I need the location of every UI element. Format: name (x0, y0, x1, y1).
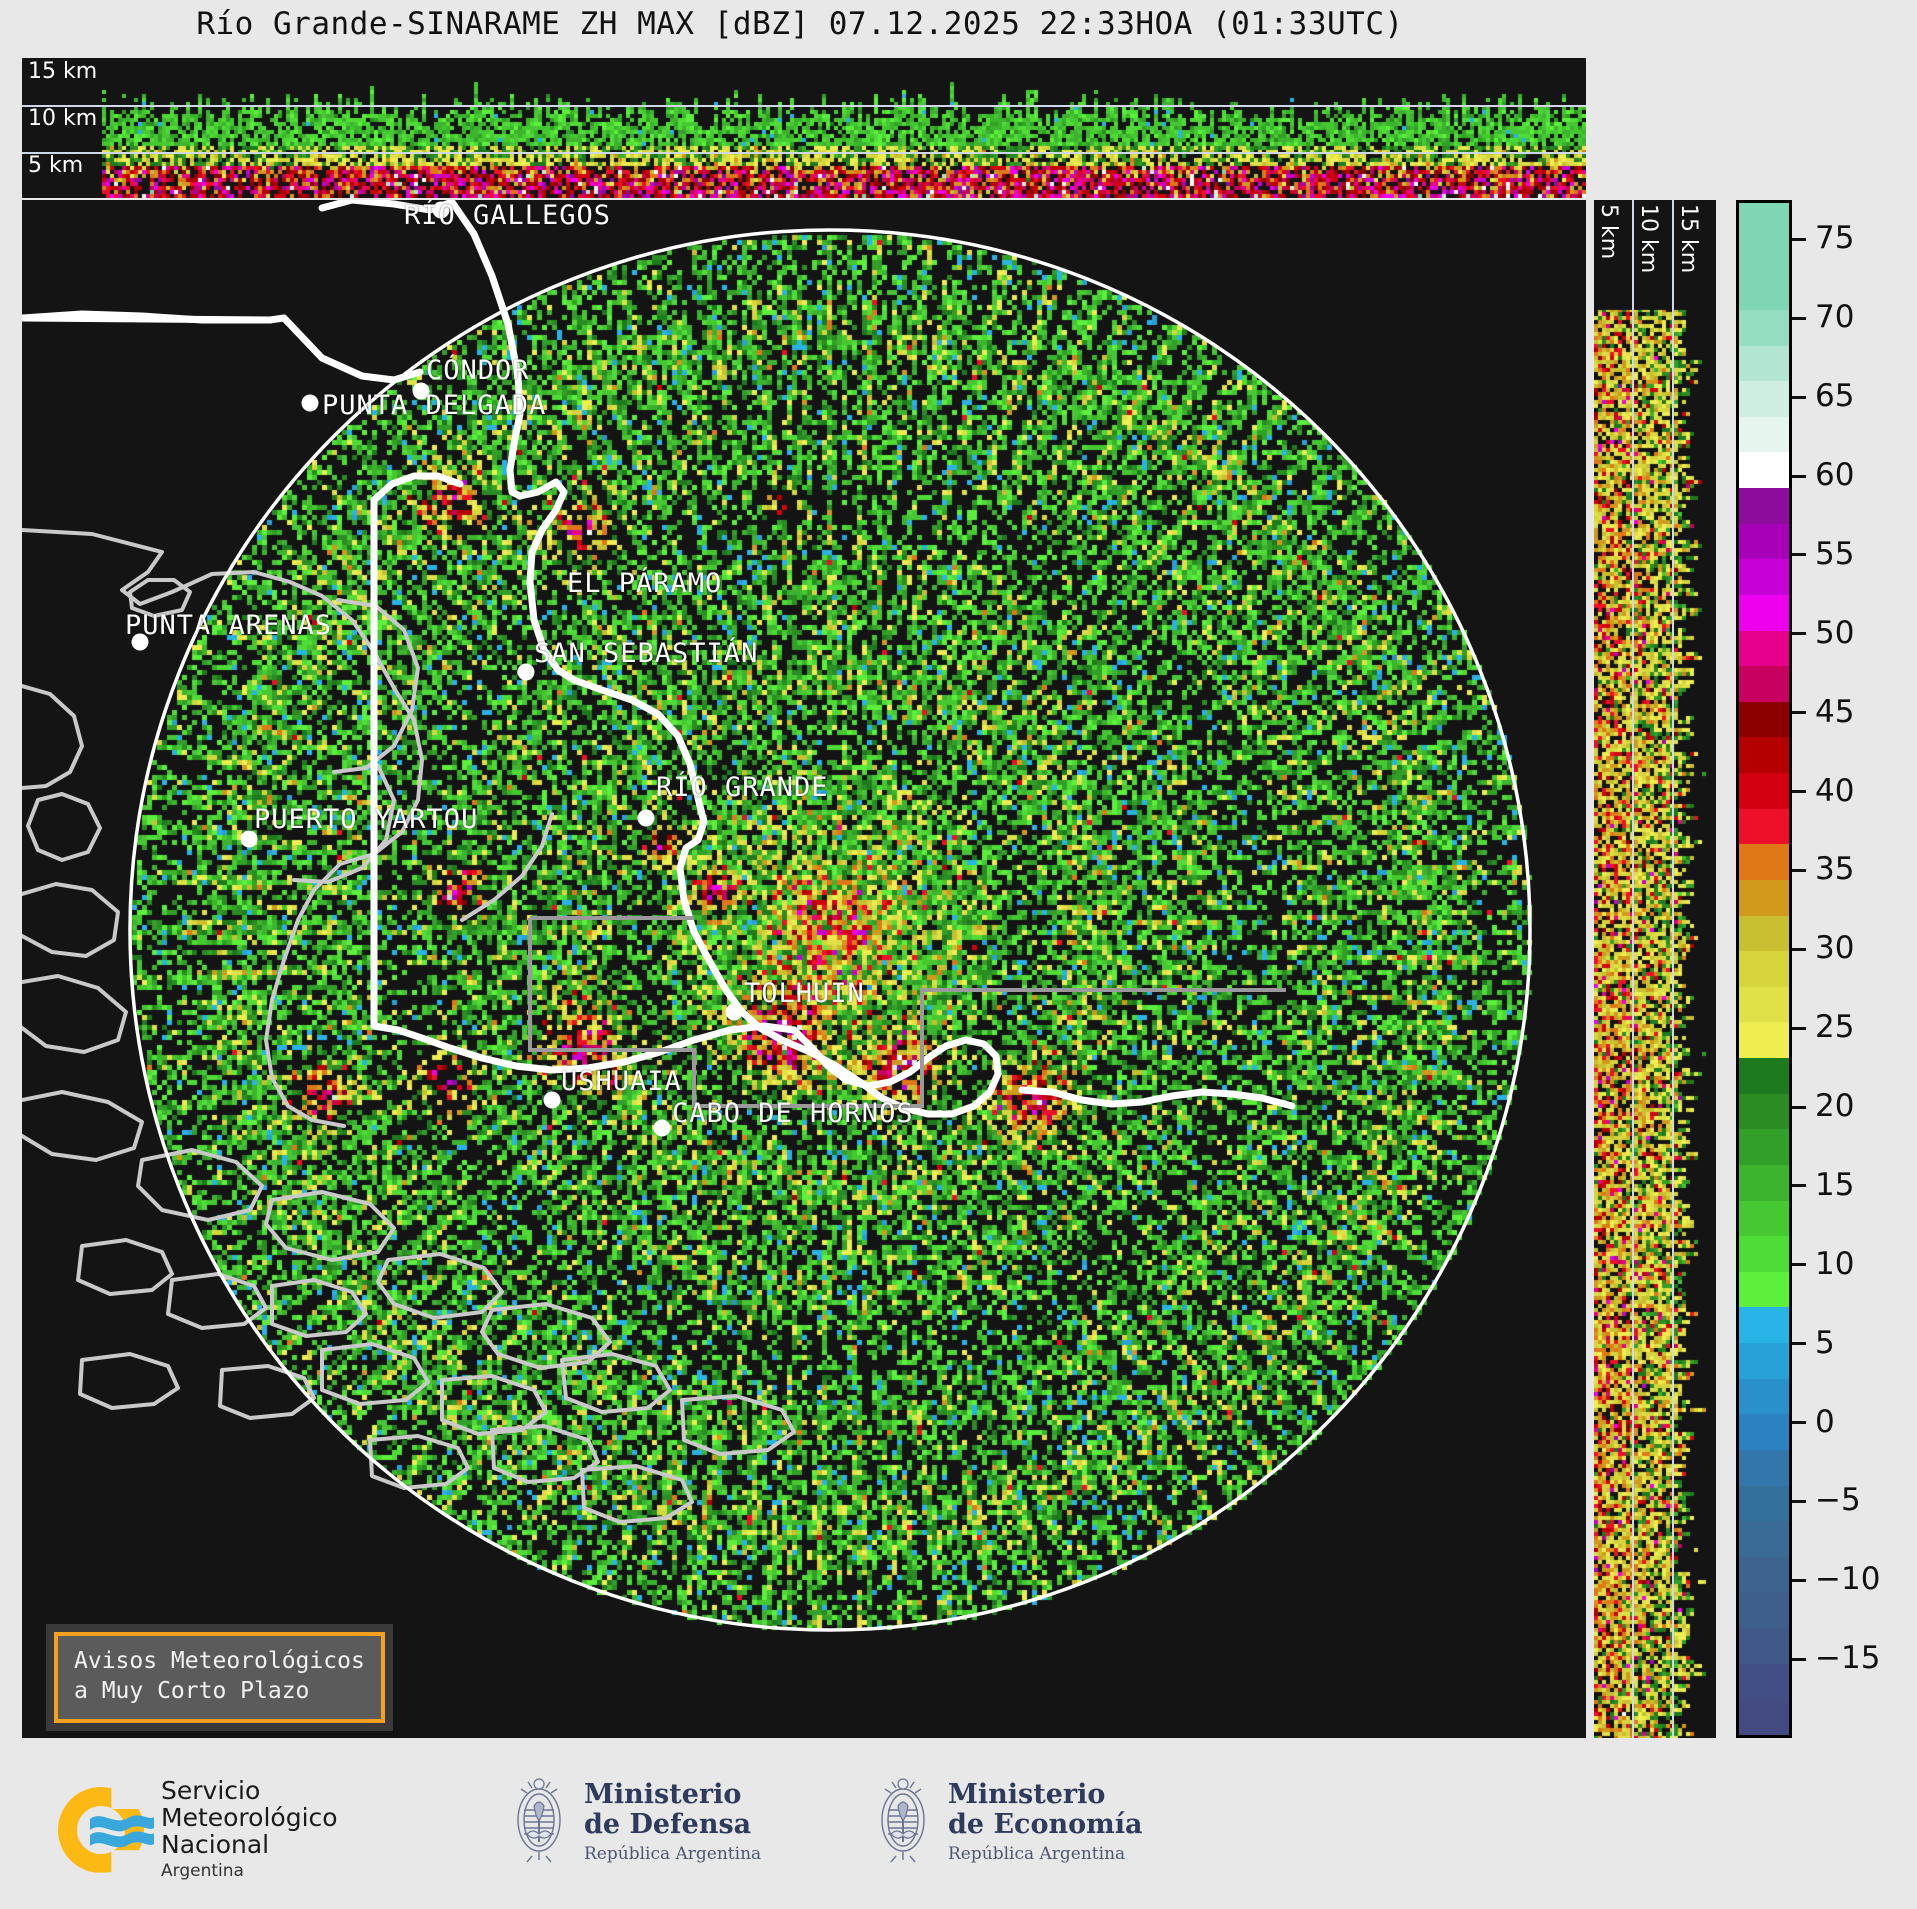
city-label-7: RÍO GRANDE (656, 772, 829, 803)
smn-wordmark: Servicio Meteorológico Nacional Argentin… (161, 1778, 338, 1881)
tick-dash (1792, 1658, 1806, 1661)
city-label-1: CÓNDOR (426, 355, 530, 386)
tick-label: 35 (1815, 851, 1854, 887)
colorbar-band-37 (1739, 1521, 1789, 1557)
colorbar-band-21 (1739, 951, 1789, 987)
colorbar-band-1 (1739, 239, 1789, 275)
colorbar (1736, 200, 1792, 1738)
tick-label: 75 (1815, 220, 1854, 256)
tick-label: 25 (1815, 1009, 1854, 1045)
city-label-9: USHUAIA (561, 1066, 682, 1097)
footer: Servicio Meteorológico Nacional Argentin… (0, 1760, 1600, 1909)
city-label-5: PUNTA ARENAS (125, 610, 332, 641)
colorbar-band-4 (1739, 346, 1789, 382)
coastline-overlay (22, 200, 1586, 1738)
economia-line-3: República Argentina (948, 1844, 1142, 1864)
height-label-10km: 10 km (28, 108, 97, 130)
colorbar-tick-labels: 757065605550454035302520151050−5−10−15 (1792, 200, 1912, 1738)
colorbar-gradient (1736, 200, 1792, 1738)
top-cross-section-canvas (22, 58, 1586, 198)
ministerio-economia-logo: Ministerio de Economía República Argenti… (872, 1776, 1142, 1868)
tick-dash (1792, 238, 1806, 241)
tick-label: 70 (1815, 299, 1854, 335)
ministerio-economia-wordmark: Ministerio de Economía República Argenti… (948, 1780, 1142, 1864)
tick-label: 0 (1815, 1404, 1835, 1440)
colorbar-band-8 (1739, 488, 1789, 524)
city-dot-8[interactable] (726, 1004, 743, 1021)
ministerio-defensa-logo: Ministerio de Defensa República Argentin… (508, 1776, 761, 1868)
smn-line-2: Meteorológico (161, 1805, 338, 1832)
colorbar-band-16 (1739, 773, 1789, 809)
tick-label: 40 (1815, 773, 1854, 809)
colorbar-band-5 (1739, 381, 1789, 417)
ministerio-defensa-wordmark: Ministerio de Defensa República Argentin… (584, 1780, 761, 1864)
colorbar-band-23 (1739, 1022, 1789, 1058)
tick-dash (1792, 632, 1806, 635)
height-label-5km-right: 5 km (1596, 204, 1621, 259)
height-gridline-10km-right (1632, 200, 1634, 1738)
colorbar-band-22 (1739, 987, 1789, 1023)
tick-label: 5 (1815, 1325, 1835, 1361)
colorbar-band-10 (1739, 559, 1789, 595)
tick-label: 65 (1815, 378, 1854, 414)
colorbar-band-15 (1739, 737, 1789, 773)
tick-label: 20 (1815, 1088, 1854, 1124)
tick-label: −10 (1815, 1561, 1880, 1597)
colorbar-band-38 (1739, 1557, 1789, 1593)
economia-line-2: de Economía (948, 1810, 1142, 1840)
tick-dash (1792, 396, 1806, 399)
city-label-0: RÍO GALLEGOS (404, 200, 611, 231)
city-label-4: SAN SEBASTIÁN (534, 638, 758, 669)
colorbar-band-2 (1739, 274, 1789, 310)
tick-dash (1792, 790, 1806, 793)
right-cross-section-canvas (1594, 200, 1716, 1738)
colorbar-band-12 (1739, 631, 1789, 667)
colorbar-band-26 (1739, 1129, 1789, 1165)
city-dot-7[interactable] (638, 810, 655, 827)
tick-label: −5 (1815, 1482, 1861, 1518)
colorbar-band-25 (1739, 1094, 1789, 1130)
tick-label: 60 (1815, 457, 1854, 493)
colorbar-band-18 (1739, 844, 1789, 880)
colorbar-band-24 (1739, 1058, 1789, 1094)
colorbar-band-33 (1739, 1379, 1789, 1415)
tick-label: 50 (1815, 615, 1854, 651)
colorbar-band-41 (1739, 1664, 1789, 1700)
tick-dash (1792, 1263, 1806, 1266)
defensa-line-1: Ministerio (584, 1780, 761, 1810)
colorbar-band-6 (1739, 417, 1789, 453)
tick-dash (1792, 317, 1806, 320)
colorbar-band-13 (1739, 666, 1789, 702)
smn-line-4: Argentina (161, 1861, 338, 1881)
tick-label: 10 (1815, 1246, 1854, 1282)
colorbar-band-29 (1739, 1236, 1789, 1272)
colorbar-band-34 (1739, 1414, 1789, 1450)
colorbar-band-3 (1739, 310, 1789, 346)
colorbar-band-0 (1739, 203, 1789, 239)
city-dot-9[interactable] (544, 1092, 561, 1109)
city-dot-10[interactable] (654, 1120, 671, 1137)
colorbar-band-30 (1739, 1272, 1789, 1308)
tick-label: 30 (1815, 930, 1854, 966)
tick-label: 55 (1815, 536, 1854, 572)
tick-dash (1792, 1027, 1806, 1030)
city-label-10: CABO DE HORNOS (672, 1098, 914, 1129)
colorbar-band-7 (1739, 452, 1789, 488)
height-label-15km: 15 km (28, 61, 97, 83)
colorbar-band-36 (1739, 1486, 1789, 1522)
economia-line-1: Ministerio (948, 1780, 1142, 1810)
tick-dash (1792, 475, 1806, 478)
page-title: Río Grande-SINARAME ZH MAX [dBZ] 07.12.2… (0, 6, 1600, 42)
tick-label: 45 (1815, 694, 1854, 730)
tick-dash (1792, 1421, 1806, 1424)
tick-label: −15 (1815, 1640, 1880, 1676)
city-dot-4[interactable] (518, 664, 535, 681)
height-gridline-10km (22, 105, 1586, 107)
warning-line-2: a Muy Corto Plazo (74, 1676, 365, 1706)
colorbar-band-31 (1739, 1307, 1789, 1343)
city-dot-2[interactable] (302, 395, 319, 412)
tick-dash (1792, 1579, 1806, 1582)
colorbar-band-19 (1739, 880, 1789, 916)
smn-logo: Servicio Meteorológico Nacional Argentin… (58, 1778, 338, 1881)
colorbar-band-40 (1739, 1628, 1789, 1664)
colorbar-band-14 (1739, 702, 1789, 738)
tick-dash (1792, 1342, 1806, 1345)
city-label-3: EL PÁRAMO (567, 568, 722, 599)
defensa-line-2: de Defensa (584, 1810, 761, 1840)
top-cross-section-panel: 15 km 10 km 5 km (22, 58, 1586, 198)
colorbar-band-32 (1739, 1343, 1789, 1379)
tick-dash (1792, 869, 1806, 872)
warning-box[interactable]: Avisos Meteorológicos a Muy Corto Plazo (54, 1632, 385, 1723)
tick-dash (1792, 711, 1806, 714)
warning-line-1: Avisos Meteorológicos (74, 1646, 365, 1676)
colorbar-band-42 (1739, 1699, 1789, 1735)
tick-dash (1792, 948, 1806, 951)
colorbar-band-28 (1739, 1201, 1789, 1237)
tick-label: 15 (1815, 1167, 1854, 1203)
argentina-coat-of-arms-icon (872, 1776, 934, 1868)
smn-line-1: Servicio (161, 1778, 338, 1805)
smn-emblem-icon (58, 1787, 144, 1873)
height-label-15km-right: 15 km (1676, 204, 1701, 273)
city-label-8: TOLHUIN (744, 978, 865, 1009)
colorbar-band-20 (1739, 916, 1789, 952)
height-gridline-5km (22, 152, 1586, 154)
colorbar-band-9 (1739, 524, 1789, 560)
defensa-line-3: República Argentina (584, 1844, 761, 1864)
tick-dash (1792, 1106, 1806, 1109)
smn-flag-icon (88, 1809, 156, 1851)
colorbar-band-11 (1739, 595, 1789, 631)
colorbar-band-35 (1739, 1450, 1789, 1486)
tick-dash (1792, 553, 1806, 556)
colorbar-band-39 (1739, 1592, 1789, 1628)
height-label-5km: 5 km (28, 155, 83, 177)
right-cross-section-panel: 5 km 10 km 15 km (1594, 200, 1716, 1738)
city-label-6: PUERTO YARTOU (254, 804, 478, 835)
smn-line-3: Nacional (161, 1832, 338, 1859)
tick-dash (1792, 1184, 1806, 1187)
radar-ppi-map[interactable]: RÍO GALLEGOSCÓNDORPUNTA DELGADAEL PÁRAMO… (22, 200, 1586, 1738)
city-label-2: PUNTA DELGADA (322, 390, 546, 421)
tick-dash (1792, 1500, 1806, 1503)
colorbar-band-17 (1739, 809, 1789, 845)
colorbar-band-27 (1739, 1165, 1789, 1201)
height-label-10km-right: 10 km (1636, 204, 1661, 273)
height-gridline-15km-right (1672, 200, 1674, 1738)
argentina-coat-of-arms-icon (508, 1776, 570, 1868)
